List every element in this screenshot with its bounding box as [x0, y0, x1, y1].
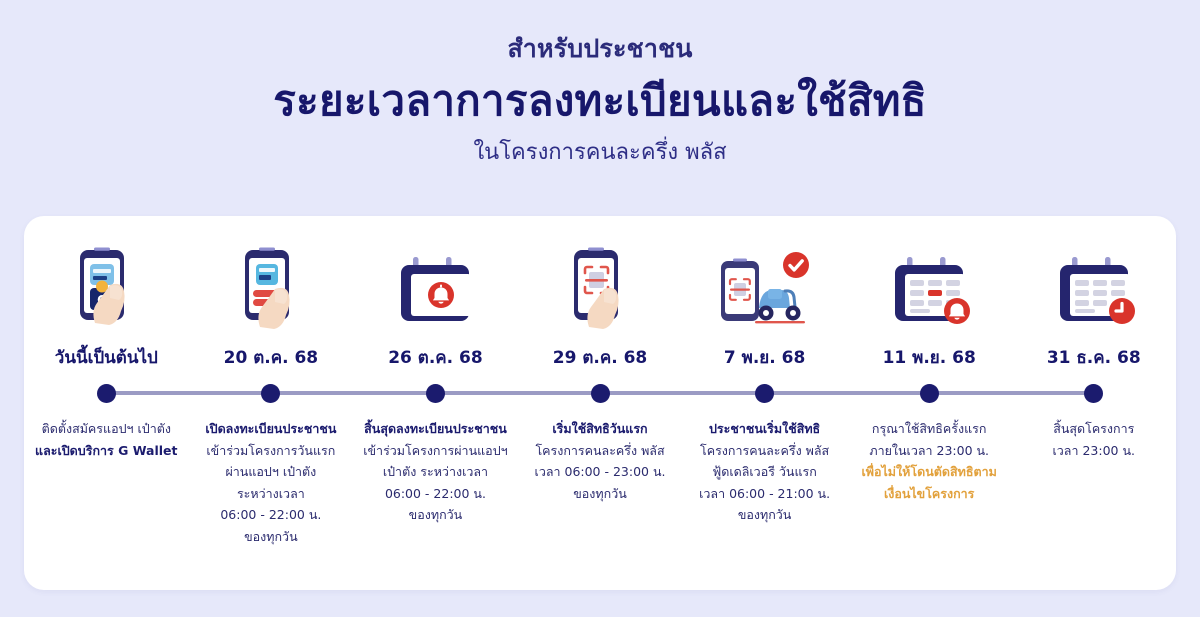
timeline-step: 31 ธ.ค. 68สิ้นสุดโครงการเวลา 23:00 น.	[1011, 216, 1176, 590]
header-eyebrow: สำหรับประชาชน	[0, 34, 1200, 64]
page-title: ระยะเวลาการลงทะเบียนและใช้สิทธิ	[0, 74, 1200, 129]
timeline-node-row	[847, 376, 1012, 410]
header: สำหรับประชาชน ระยะเวลาการลงทะเบียนและใช้…	[0, 0, 1200, 167]
timeline-dot	[1084, 384, 1103, 403]
timeline-description-line: โครงการคนละครึ่ง พลัส	[524, 440, 677, 462]
timeline-description-line: เข้าร่วมโครงการผ่านแอปฯ	[359, 440, 512, 462]
timeline-connector-right	[106, 391, 188, 395]
timeline-description-line: เข้าร่วมโครงการวันแรก	[195, 440, 348, 462]
timeline-date-label: 26 ต.ค. 68	[388, 348, 482, 376]
timeline-description-line: สิ้นสุดลงทะเบียนประชาชน	[359, 418, 512, 440]
calendar-grid-clock-icon	[1048, 240, 1140, 346]
timeline-node-row	[189, 376, 354, 410]
timeline-description-line: ของทุกวัน	[195, 526, 348, 548]
timeline-connector-left	[189, 391, 271, 395]
timeline-description-line: โครงการคนละครึ่ง พลัส	[688, 440, 841, 462]
timeline-card: G วันนี้เป็นต้นไปติดตั้งสมัครแอปฯ เป๋าตั…	[24, 216, 1176, 590]
infographic-page: สำหรับประชาชน ระยะเวลาการลงทะเบียนและใช้…	[0, 0, 1200, 617]
timeline-description-line: เวลา 23:00 น.	[1017, 440, 1170, 462]
timeline-description-line: ของทุกวัน	[524, 483, 677, 505]
timeline-description-line: เวลา 06:00 - 21:00 น.	[688, 483, 841, 505]
calendar-bell-icon	[389, 240, 481, 346]
timeline-description-line: ระหว่างเวลา	[195, 483, 348, 505]
timeline-dot	[920, 384, 939, 403]
timeline-description: สิ้นสุดลงทะเบียนประชาชนเข้าร่วมโครงการผ่…	[353, 418, 518, 526]
timeline-connector-right	[765, 391, 847, 395]
timeline-description-line: ภายในเวลา 23:00 น.	[853, 440, 1006, 462]
timeline-dot	[591, 384, 610, 403]
timeline-description-line: และเปิดบริการ G Wallet	[30, 440, 183, 462]
timeline-date-label: 29 ต.ค. 68	[553, 348, 647, 376]
timeline-description-line: ฟู้ดเดลิเวอรี วันแรก	[688, 461, 841, 483]
timeline-description: เปิดลงทะเบียนประชาชนเข้าร่วมโครงการวันแร…	[189, 418, 354, 547]
timeline-node-row	[353, 376, 518, 410]
timeline: G วันนี้เป็นต้นไปติดตั้งสมัครแอปฯ เป๋าตั…	[24, 216, 1176, 590]
timeline-connector-left	[353, 391, 435, 395]
timeline-connector-left	[682, 391, 764, 395]
timeline-step: 7 พ.ย. 68ประชาชนเริ่มใช้สิทธิโครงการคนละ…	[682, 216, 847, 590]
timeline-date-label: 20 ต.ค. 68	[224, 348, 318, 376]
timeline-connector-right	[929, 391, 1011, 395]
timeline-connector-left	[1011, 391, 1093, 395]
timeline-connector-right	[271, 391, 353, 395]
timeline-date-label: วันนี้เป็นต้นไป	[55, 348, 158, 376]
timeline-node-row	[24, 376, 189, 410]
phone-hand-apps-icon: G	[63, 240, 149, 346]
timeline-step: 29 ต.ค. 68เริ่มใช้สิทธิวันแรกโครงการคนละ…	[518, 216, 683, 590]
timeline-date-label: 7 พ.ย. 68	[724, 348, 805, 376]
timeline-step: 11 พ.ย. 68กรุณาใช้สิทธิครั้งแรกภายในเวลา…	[847, 216, 1012, 590]
timeline-description-line: เริ่มใช้สิทธิวันแรก	[524, 418, 677, 440]
timeline-description-line: เพื่อไม่ให้โดนตัดสิทธิตาม	[853, 461, 1006, 483]
timeline-dot	[426, 384, 445, 403]
timeline-description: ประชาชนเริ่มใช้สิทธิโครงการคนละครึ่ง พลั…	[682, 418, 847, 526]
timeline-connector-right	[435, 391, 517, 395]
timeline-description-line: กรุณาใช้สิทธิครั้งแรก	[853, 418, 1006, 440]
timeline-description-line: เป๋าตัง ระหว่างเวลา	[359, 461, 512, 483]
timeline-dot	[97, 384, 116, 403]
timeline-description-line: เงื่อนไขโครงการ	[853, 483, 1006, 505]
timeline-description: ติดตั้งสมัครแอปฯ เป๋าตังและเปิดบริการ G …	[24, 418, 189, 461]
timeline-node-row	[1011, 376, 1176, 410]
timeline-step: 26 ต.ค. 68สิ้นสุดลงทะเบียนประชาชนเข้าร่ว…	[353, 216, 518, 590]
timeline-description: เริ่มใช้สิทธิวันแรกโครงการคนละครึ่ง พลัส…	[518, 418, 683, 504]
timeline-description-line: เวลา 06:00 - 23:00 น.	[524, 461, 677, 483]
timeline-description: กรุณาใช้สิทธิครั้งแรกภายในเวลา 23:00 น.เ…	[847, 418, 1012, 504]
timeline-description-line: สิ้นสุดโครงการ	[1017, 418, 1170, 440]
timeline-node-row	[682, 376, 847, 410]
timeline-connector-left	[847, 391, 929, 395]
phone-hand-register-icon	[228, 240, 314, 346]
timeline-description-line: ผ่านแอปฯ เป๋าตัง	[195, 461, 348, 483]
timeline-description-line: ติดตั้งสมัครแอปฯ เป๋าตัง	[30, 418, 183, 440]
timeline-description-line: ประชาชนเริ่มใช้สิทธิ	[688, 418, 841, 440]
timeline-description-line: ของทุกวัน	[359, 504, 512, 526]
phone-hand-qr-scan-icon	[557, 240, 643, 346]
timeline-description-line: 06:00 - 22:00 น.	[195, 504, 348, 526]
timeline-description-line: 06:00 - 22:00 น.	[359, 483, 512, 505]
timeline-dot	[261, 384, 280, 403]
timeline-connector-right	[600, 391, 682, 395]
timeline-description-line: ของทุกวัน	[688, 504, 841, 526]
header-subtitle: ในโครงการคนละครึ่ง พลัส	[0, 139, 1200, 168]
timeline-date-label: 11 พ.ย. 68	[883, 348, 976, 376]
calendar-grid-bell-icon	[883, 240, 975, 346]
timeline-description-line: เปิดลงทะเบียนประชาชน	[195, 418, 348, 440]
timeline-step: G วันนี้เป็นต้นไปติดตั้งสมัครแอปฯ เป๋าตั…	[24, 216, 189, 590]
timeline-connector-left	[518, 391, 600, 395]
timeline-date-label: 31 ธ.ค. 68	[1047, 348, 1141, 376]
timeline-node-row	[518, 376, 683, 410]
phone-scooter-delivery-icon	[713, 240, 817, 346]
timeline-dot	[755, 384, 774, 403]
timeline-step: 20 ต.ค. 68เปิดลงทะเบียนประชาชนเข้าร่วมโค…	[189, 216, 354, 590]
timeline-description: สิ้นสุดโครงการเวลา 23:00 น.	[1011, 418, 1176, 461]
